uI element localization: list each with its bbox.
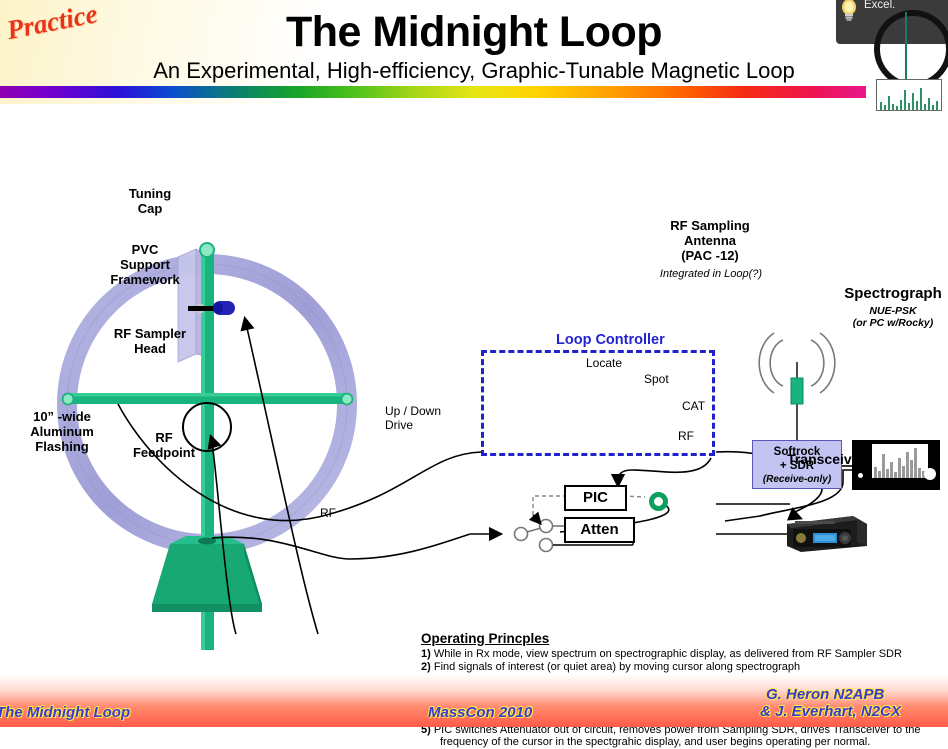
flashing-line3: Flashing [35, 439, 88, 454]
label-rf-sampling-antenna: RF Sampling Antenna (PAC -12) [640, 218, 780, 263]
label-spectrograph-sub2: (or PC w/Rocky) [838, 317, 948, 329]
label-rf-sampler-head: RF Sampler Head [95, 326, 205, 356]
list-item: 1) While in Rx mode, view spectrum on sp… [421, 648, 941, 661]
locate-line [618, 458, 711, 480]
loop-controller-box [481, 350, 715, 456]
magnifier-lens-icon [874, 10, 948, 88]
item-cont: frequency of the cursor in the spectgrah… [434, 736, 941, 749]
label-transceiver: Transceiver [770, 452, 882, 467]
flashing-line2: Aluminum [30, 424, 94, 439]
spot-button[interactable] [649, 492, 668, 511]
atten-unit[interactable]: Atten [564, 517, 635, 543]
list-item: 5) PIC switches Attenuator out of circui… [421, 724, 941, 749]
footer-author-2: & J. Everhart, N2CX [760, 703, 901, 720]
tuning-cap-line1: Tuning [129, 186, 171, 201]
label-spectrograph-sub1: NUE-PSK [838, 305, 948, 317]
flashing-line1: 10” -wide [33, 409, 91, 424]
up-down-line2: Drive [385, 418, 413, 432]
footer-author-1: G. Heron N2APB [766, 686, 884, 703]
list-item: 2) Find signals of interest (or quiet ar… [421, 661, 941, 674]
pvc-line1: PVC [132, 242, 159, 257]
pic-unit[interactable]: PIC [564, 485, 627, 511]
spectrograph-led [858, 473, 863, 478]
page-subtitle: An Experimental, High-efficiency, Graphi… [0, 58, 948, 84]
item-text: While in Rx mode, view spectrum on spect… [434, 648, 902, 660]
diagram-canvas: Tuning Cap PVC Support Framework RF Samp… [0, 104, 948, 674]
tuning-cap-line2: Cap [138, 201, 163, 216]
operating-principles-heading: Operating Princples [421, 631, 941, 646]
footer-left: The Midnight Loop [0, 704, 130, 721]
item-text: Find signals of interest (or quiet area)… [434, 661, 800, 673]
antenna-line2: Antenna [684, 233, 736, 248]
label-pvc-support: PVC Support Framework [90, 242, 200, 287]
pvc-line3: Framework [110, 272, 179, 287]
feedpoint-line1: RF [155, 430, 172, 445]
footer-center: MassCon 2010 [428, 704, 532, 721]
pic-control-dashed [533, 496, 564, 515]
sampler-line1: RF Sampler [114, 326, 186, 341]
up-down-line1: Up / Down [385, 404, 441, 418]
item-number: 1) [421, 648, 431, 660]
loop-controller-title: Loop Controller [556, 332, 665, 348]
lightbulb-icon [839, 0, 859, 22]
rainbow-divider [0, 86, 866, 98]
label-rf-lower: RF [320, 506, 336, 520]
sampler-line2: Head [134, 341, 166, 356]
antenna-line3: (PAC -12) [681, 248, 739, 263]
feedpoint-line2: Feedpoint [133, 445, 195, 460]
label-spectrograph-title: Spectrograph [838, 286, 948, 301]
item-number: 2) [421, 661, 431, 673]
label-antenna-note: Integrated in Loop(?) [640, 268, 782, 280]
softrock-note: (Receive-only) [753, 473, 841, 487]
rf-sampling-antenna [759, 333, 835, 440]
pvc-line2: Support [120, 257, 170, 272]
label-tuning-cap: Tuning Cap [108, 186, 192, 216]
spectrograph-knob[interactable] [924, 468, 936, 480]
page-header: Practice The Midnight Loop An Experiment… [0, 0, 948, 104]
label-up-down-drive: Up / Down Drive [385, 404, 441, 432]
label-aluminum-flashing: 10” -wide Aluminum Flashing [8, 409, 116, 454]
label-rf-feedpoint: RF Feedpoint [110, 430, 218, 460]
antenna-line1: RF Sampling [670, 218, 749, 233]
page-title: The Midnight Loop [0, 8, 948, 57]
transceiver-image [783, 512, 869, 554]
